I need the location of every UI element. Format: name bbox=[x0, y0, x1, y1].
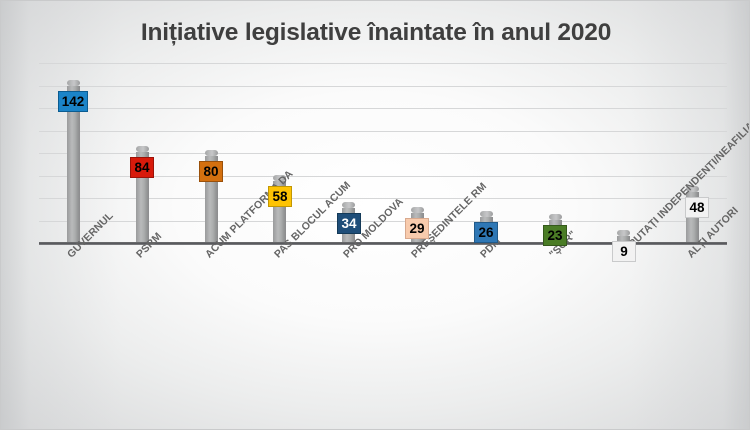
bar-cap bbox=[342, 202, 355, 208]
gridline bbox=[39, 108, 727, 109]
bar-cap bbox=[617, 230, 630, 236]
bar-value-label: 26 bbox=[474, 222, 498, 243]
bar-value-label: 84 bbox=[130, 157, 154, 178]
bar-cap bbox=[480, 211, 493, 217]
bar-value-label: 9 bbox=[612, 241, 636, 262]
bar-value-label: 34 bbox=[337, 213, 361, 234]
chart-slide: Inițiative legislative înaintate în anul… bbox=[0, 0, 750, 430]
gridline bbox=[39, 63, 727, 64]
bar-value-label: 58 bbox=[268, 186, 292, 207]
chart-title: Inițiative legislative înaintate în anul… bbox=[1, 19, 750, 47]
bar-value-label: 48 bbox=[685, 197, 709, 218]
bar-cap bbox=[67, 80, 80, 86]
bar-cap bbox=[549, 214, 562, 220]
bar-cap bbox=[205, 150, 218, 156]
bar-value-label: 29 bbox=[405, 218, 429, 239]
bar-cap bbox=[411, 207, 424, 213]
bar-value-label: 23 bbox=[543, 225, 567, 246]
gridline bbox=[39, 86, 727, 87]
bar-value-label: 142 bbox=[58, 91, 88, 112]
bar-cap bbox=[136, 146, 149, 152]
bar-value-label: 80 bbox=[199, 161, 223, 182]
gridline bbox=[39, 131, 727, 132]
